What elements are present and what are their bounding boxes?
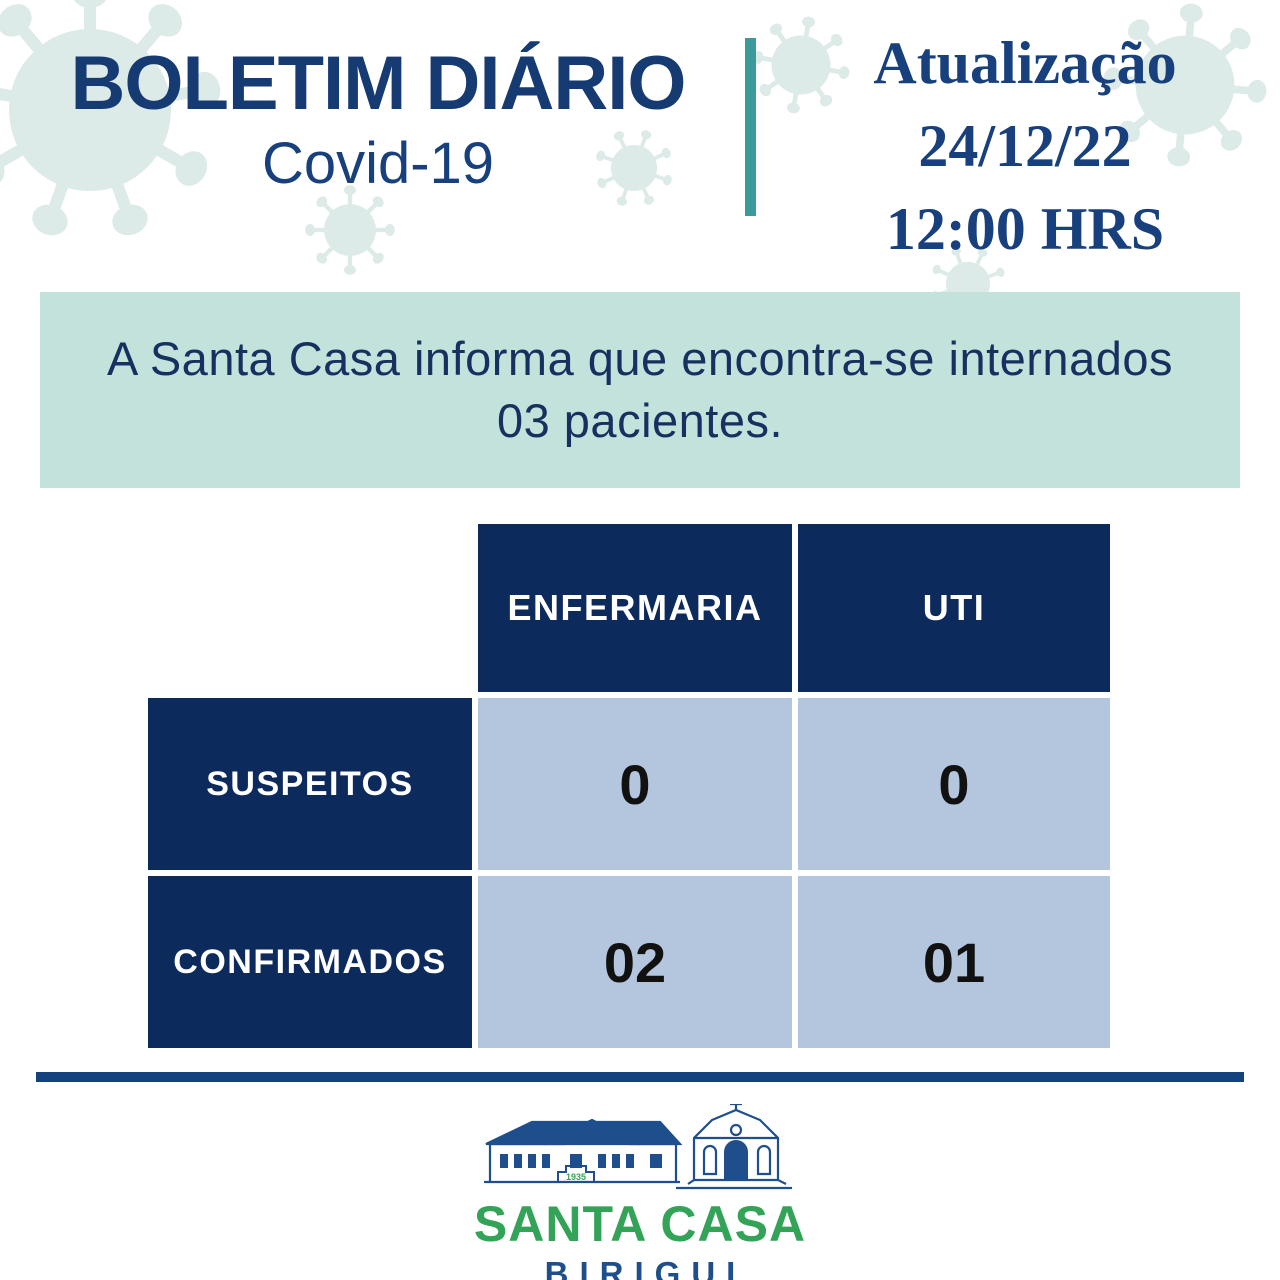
value-suspeitos-enfermaria: 0 — [478, 698, 792, 870]
poster-header: BOLETIM DIÁRIO Covid-19 Atualização 24/1… — [0, 0, 1280, 292]
table-corner-cell — [148, 524, 472, 692]
occupancy-table: ENFERMARIA UTI SUSPEITOS 0 0 CONFIRMADOS… — [148, 524, 1110, 1054]
page-title: BOLETIM DIÁRIO — [48, 46, 708, 122]
vertical-divider — [745, 38, 756, 216]
row-label-suspeitos: SUSPEITOS — [148, 698, 472, 870]
value-confirmados-enfermaria: 02 — [478, 876, 792, 1048]
table-header-row: ENFERMARIA UTI — [148, 524, 1110, 692]
title-block: BOLETIM DIÁRIO Covid-19 — [48, 46, 708, 201]
info-banner-text: A Santa Casa informa que encontra-se int… — [40, 328, 1240, 452]
santa-casa-logo: 1935 SANTA CASA BIRIGUI — [0, 1104, 1280, 1280]
logo-year-text: 1935 — [566, 1172, 586, 1182]
value-confirmados-uti: 01 — [798, 876, 1110, 1048]
row-label-confirmados: CONFIRMADOS — [148, 876, 472, 1048]
update-block: Atualização 24/12/22 12:00 HRS — [790, 22, 1260, 270]
covid-daily-bulletin-poster: BOLETIM DIÁRIO Covid-19 Atualização 24/1… — [0, 0, 1280, 1280]
value-suspeitos-uti: 0 — [798, 698, 1110, 870]
column-header-uti: UTI — [798, 524, 1110, 692]
hospital-building-icon: 1935 — [480, 1104, 800, 1196]
table-row-confirmados: CONFIRMADOS 02 01 — [148, 876, 1110, 1048]
table-row-suspeitos: SUSPEITOS 0 0 — [148, 698, 1110, 870]
update-label: Atualização — [790, 22, 1260, 105]
column-header-enfermaria: ENFERMARIA — [478, 524, 792, 692]
info-banner: A Santa Casa informa que encontra-se int… — [40, 292, 1240, 488]
update-time: 12:00 HRS — [790, 188, 1260, 271]
logo-city-text: BIRIGUI — [534, 1255, 747, 1280]
page-subtitle: Covid-19 — [48, 128, 708, 201]
update-date: 24/12/22 — [790, 105, 1260, 188]
logo-name-text: SANTA CASA — [474, 1198, 806, 1251]
footer-divider-rule — [36, 1072, 1244, 1082]
